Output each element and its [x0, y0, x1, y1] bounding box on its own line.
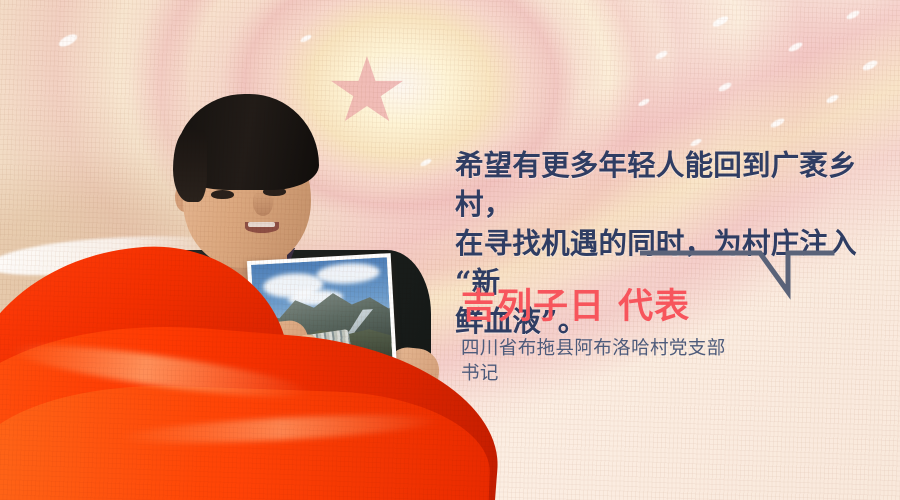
- speaker-role-line: 书记: [461, 361, 761, 386]
- text-block: 希望有更多年轻人能回到广袤乡村， 在寻找机遇的同时，为村庄注入“新 鲜血液”。 …: [455, 0, 885, 500]
- speaker-role: 四川省布拖县阿布洛哈村党支部 书记: [461, 336, 761, 386]
- quote-line: 希望有更多年轻人能回到广袤乡村，: [455, 146, 883, 224]
- poster-canvas: 希望有更多年轻人能回到广袤乡村， 在寻找机遇的同时，为村庄注入“新 鲜血液”。 …: [0, 0, 900, 500]
- speaker-name: 吉列子日 代表: [461, 285, 690, 329]
- speaker-role-line: 四川省布拖县阿布洛哈村党支部: [461, 336, 761, 361]
